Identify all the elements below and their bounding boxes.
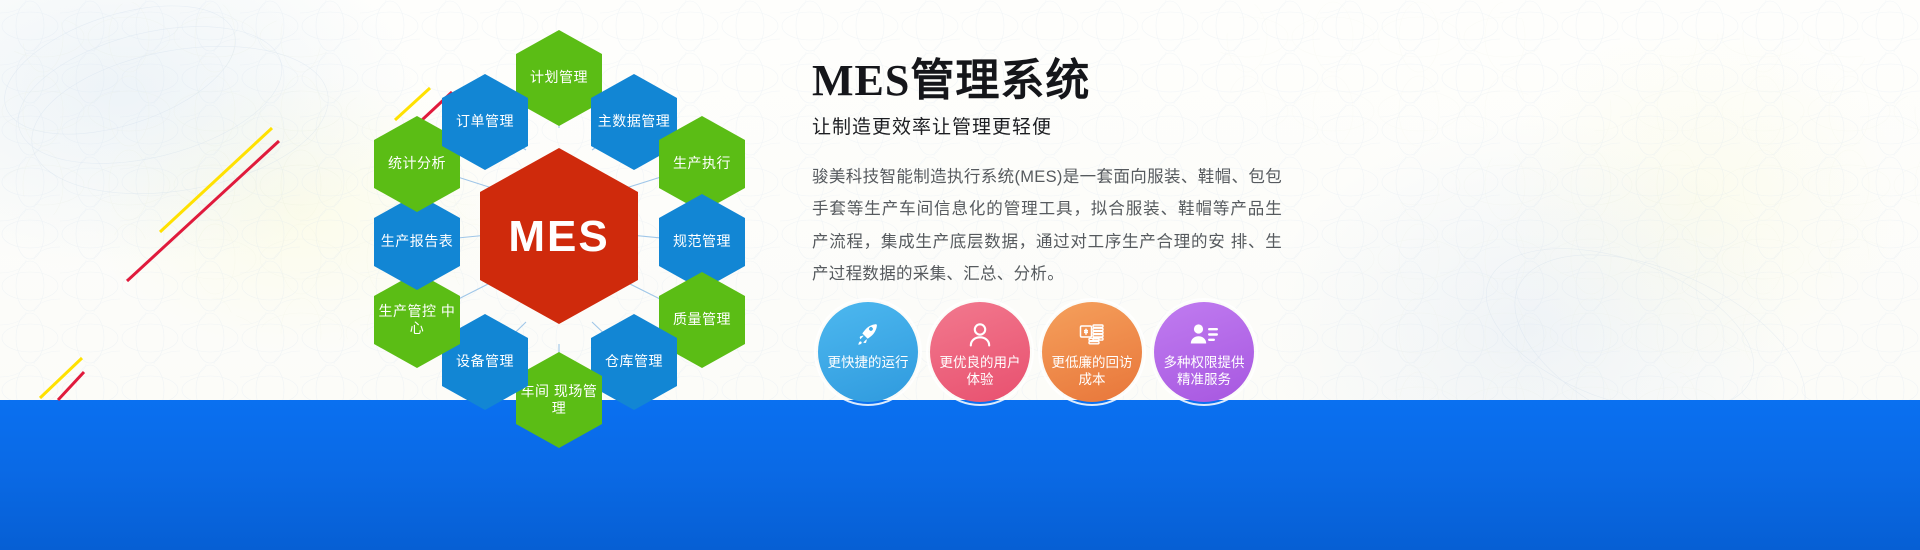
user-icon <box>964 318 996 352</box>
description-paragraph: 骏美科技智能制造执行系统(MES)是一套面向服装、鞋帽、包包手套等生产车间信息化… <box>812 161 1282 290</box>
feature-badge-label: 更低廉的回访成本 <box>1042 355 1142 389</box>
page-subtitle: 让制造更效率让管理更轻便 <box>812 112 1282 139</box>
banner-content: MES管理系统 让制造更效率让管理更轻便 骏美科技智能制造执行系统(MES)是一… <box>812 58 1282 290</box>
feature-badge-label: 多种权限提供精准服务 <box>1154 355 1254 389</box>
feature-badge-0[interactable]: 更快捷的运行 <box>818 302 918 402</box>
feature-badge-list: 更快捷的运行更优良的用户体验更低廉的回访成本多种权限提供精准服务 <box>818 302 1254 402</box>
feature-badge-3[interactable]: 多种权限提供精准服务 <box>1154 302 1254 402</box>
banner-stage: 计划管理主数据管理生产执行规范管理质量管理仓库管理车间 现场管理设备管理生产管控… <box>0 0 1920 550</box>
feature-badge-2[interactable]: 更低廉的回访成本 <box>1042 302 1142 402</box>
feature-badge-label: 更优良的用户体验 <box>930 355 1030 389</box>
user-list-icon <box>1188 318 1220 352</box>
rocket-icon <box>852 318 884 352</box>
page-title: MES管理系统 <box>812 58 1282 104</box>
coins-icon <box>1076 318 1108 352</box>
mes-hexagon-diagram: 计划管理主数据管理生产执行规范管理质量管理仓库管理车间 现场管理设备管理生产管控… <box>330 10 790 450</box>
feature-badge-label: 更快捷的运行 <box>822 355 915 372</box>
feature-badge-1[interactable]: 更优良的用户体验 <box>930 302 1030 402</box>
